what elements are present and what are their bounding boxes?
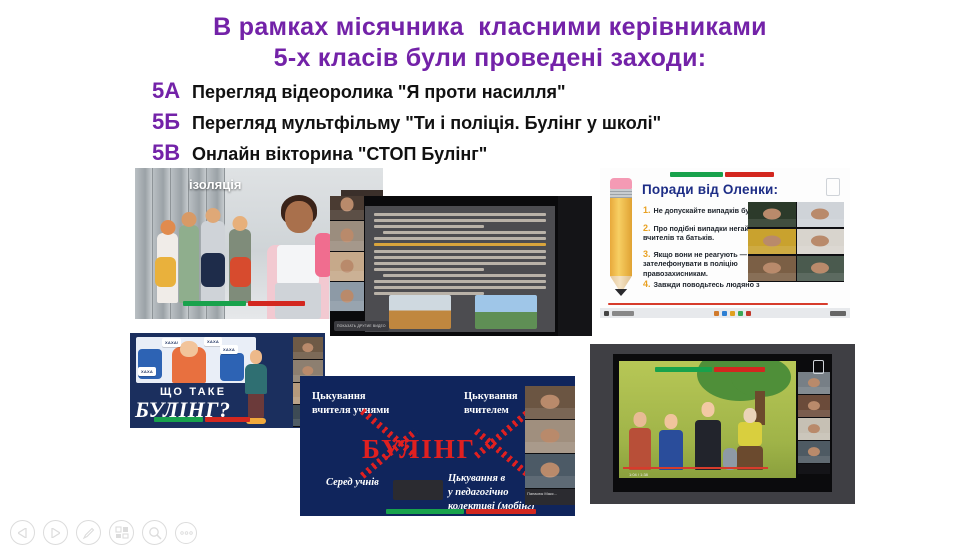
torso	[659, 430, 683, 470]
bully-figure	[220, 353, 244, 381]
text-line	[374, 213, 546, 216]
participant-tile[interactable]	[293, 337, 323, 360]
class-tag: 5Б	[152, 109, 192, 135]
tip-number: 4.	[643, 279, 651, 289]
skirt	[737, 446, 763, 470]
pen-icon[interactable]	[76, 520, 101, 545]
slide-document	[365, 206, 555, 332]
start-icon[interactable]	[604, 311, 609, 316]
title-line-2: 5-х класів були проведені заходи:	[0, 43, 980, 74]
head-icon	[744, 408, 757, 423]
participant-tile[interactable]	[798, 441, 830, 464]
banner-red	[714, 367, 765, 372]
banner-green	[655, 367, 712, 372]
text-line	[374, 225, 484, 228]
list-item: 5А Перегляд відеоролика "Я проти насилля…	[152, 78, 932, 105]
pencil-icon	[610, 178, 632, 296]
tips-heading: Поради від Оленки:	[642, 182, 778, 197]
text-line	[374, 256, 546, 259]
presentation-toolbar	[10, 520, 197, 545]
copy-link-icon[interactable]	[826, 178, 840, 196]
cartoon-teacher	[737, 408, 763, 470]
participant-tile[interactable]	[525, 420, 575, 454]
zoom-icon[interactable]	[142, 520, 167, 545]
participant-name-label: Панасюк Макс...	[525, 489, 575, 505]
backpack-icon	[201, 253, 225, 287]
video-progress-bar[interactable]	[608, 303, 828, 306]
more-options-icon[interactable]	[175, 522, 197, 544]
locker-icon	[135, 168, 153, 319]
meeting-banner	[154, 417, 250, 422]
participant-thumbnail-strip	[798, 372, 830, 474]
pencil-tip	[610, 289, 632, 296]
speech-bubble: ХАХА!	[162, 338, 181, 347]
shirt	[277, 245, 319, 285]
title-line-1: В рамках місячника класними керівниками	[0, 12, 980, 43]
video-time-label: 1:04 / 1:38	[629, 472, 648, 477]
uniform	[695, 420, 721, 470]
cartoon-girl	[659, 414, 683, 470]
head-icon	[285, 201, 313, 233]
taskbar-app-icon[interactable]	[738, 311, 743, 316]
text-line	[374, 262, 546, 265]
text-line	[383, 231, 546, 234]
activity-text: Онлайн вікторина "СТОП Булінг"	[192, 141, 487, 167]
cartoon-scene: 1:04 / 1:38	[619, 361, 796, 478]
cartoon-boy	[629, 412, 651, 470]
class-activity-list: 5А Перегляд відеоролика "Я проти насилля…	[152, 78, 932, 171]
diagram-center-label: БУЛІНГ	[362, 434, 476, 465]
system-tray[interactable]	[830, 311, 846, 316]
cartoon-police-video-screenshot: 1:04 / 1:38	[590, 344, 855, 504]
highlight-line	[374, 243, 546, 246]
text-line	[374, 219, 546, 222]
cartoon-policewoman	[695, 402, 721, 470]
disability-presentation-screenshot: ПОКАЗАТЬ ДРУГИЕ ВИДЕО	[330, 196, 592, 336]
text-line	[383, 274, 546, 277]
participant-grid	[748, 202, 844, 282]
participant-tile[interactable]	[525, 454, 575, 489]
text-line	[374, 268, 484, 271]
illustration-basketball	[389, 295, 451, 329]
backpack-icon	[230, 257, 251, 287]
what-is-bullying-screenshot: ХАХА! ХАХА ХАХА ХАХА ЩО ТАКЕ БУЛІНГ?	[130, 333, 325, 428]
tip-number: 1.	[643, 205, 651, 215]
backpack-icon	[155, 257, 176, 287]
banner-red	[466, 509, 536, 514]
tip-number: 3.	[643, 249, 651, 259]
banner-red	[248, 301, 305, 306]
banner-green	[183, 301, 246, 306]
page-title: В рамках місячника класними керівниками …	[0, 12, 980, 74]
olenka-tips-screenshot: Поради від Оленки: 1.Не допускайте випад…	[600, 168, 850, 318]
activity-text: Перегляд мультфільму "Ти і поліція. Булі…	[192, 110, 661, 136]
tip-text: Про подібні випадки негай вчителів та ба…	[643, 224, 749, 242]
taskbar-app-icon[interactable]	[714, 311, 719, 316]
participant-thumbnail-strip	[330, 196, 364, 308]
search-box[interactable]	[612, 311, 634, 316]
participant-thumbnail-strip: Панасюк Макс...	[525, 386, 575, 498]
blouse	[738, 422, 762, 446]
diagram-label-bottom-left: Серед учнів	[326, 476, 379, 490]
taskbar-app-icon[interactable]	[746, 311, 751, 316]
participant-tile[interactable]	[797, 229, 845, 255]
cartoon-cat	[723, 444, 737, 470]
text-line	[374, 280, 546, 283]
participant-tile[interactable]	[798, 395, 830, 418]
taskbar-app-icon[interactable]	[730, 311, 735, 316]
activity-text: Перегляд відеоролика "Я проти насилля"	[192, 79, 566, 105]
participant-tile[interactable]	[798, 418, 830, 441]
banner-green	[670, 172, 723, 177]
speech-bubble: ХАХА	[138, 367, 156, 376]
pencil-ferrule	[610, 189, 632, 198]
meeting-banner	[183, 301, 305, 306]
head-icon	[250, 350, 262, 364]
student-figure	[179, 225, 199, 303]
participant-tile[interactable]	[798, 372, 830, 395]
head-icon	[160, 220, 175, 235]
head-icon	[634, 412, 647, 427]
class-tag: 5В	[152, 140, 192, 166]
pencil-eraser	[610, 178, 632, 189]
illustration-rainbow	[475, 295, 537, 329]
tooltip-popup	[393, 480, 443, 500]
tip-text: Не допускайте випадків бу	[654, 206, 750, 215]
tip-text: Якщо вони не реагують — зателефонувати в…	[643, 250, 747, 278]
torso	[245, 364, 267, 394]
torso	[629, 428, 651, 470]
standing-figure	[243, 350, 269, 424]
head-icon	[180, 341, 198, 357]
participant-tile[interactable]	[525, 386, 575, 420]
participant-tile[interactable]	[330, 252, 364, 282]
text-line	[374, 286, 546, 289]
participant-tile[interactable]	[330, 282, 364, 312]
participant-tile[interactable]	[748, 256, 796, 282]
participant-tile[interactable]	[330, 221, 364, 252]
list-item: 5В Онлайн вікторина "СТОП Булінг"	[152, 140, 932, 167]
banner-green	[154, 417, 203, 422]
list-item: 5Б Перегляд мультфільму "Ти і поліція. Б…	[152, 109, 932, 136]
pencil-body	[610, 198, 632, 276]
windows-taskbar	[600, 308, 850, 318]
bullying-illustration: ХАХА! ХАХА ХАХА ХАХА	[136, 337, 256, 383]
show-other-videos-chip[interactable]: ПОКАЗАТЬ ДРУГИЕ ВИДЕО	[334, 321, 389, 331]
video-progress-bar[interactable]	[623, 467, 768, 469]
text-line	[374, 250, 546, 253]
head-icon	[702, 402, 715, 417]
next-slide-icon[interactable]	[43, 520, 68, 545]
bullying-diagram-screenshot: Цькування вчителя учнями Цькування вчите…	[300, 376, 575, 516]
meeting-banner	[386, 509, 536, 514]
meeting-banner	[655, 367, 765, 372]
slides-grid-icon[interactable]	[109, 520, 134, 545]
class-tag: 5А	[152, 78, 192, 104]
participant-tile[interactable]	[797, 202, 845, 228]
pencil-wood	[610, 276, 632, 289]
previous-slide-icon[interactable]	[10, 520, 35, 545]
head-icon	[233, 216, 248, 231]
tip-number: 2.	[643, 223, 651, 233]
tip-text: Завжди поводьтесь людяно з	[654, 280, 760, 289]
presentation-slide: В рамках місячника класними керівниками …	[0, 0, 980, 551]
taskbar-app-icon[interactable]	[722, 311, 727, 316]
video-player: 1:04 / 1:38	[613, 354, 832, 492]
copy-link-icon[interactable]	[813, 360, 824, 374]
participant-tile[interactable]	[748, 202, 796, 228]
isolation-caption: ізоляція	[189, 177, 241, 192]
participant-tile[interactable]	[797, 256, 845, 282]
banner-green	[386, 509, 464, 514]
head-icon	[665, 414, 678, 429]
speech-bubble: ХАХА	[204, 337, 222, 346]
banner-red	[205, 417, 250, 422]
head-icon	[206, 208, 221, 223]
banner-red	[725, 172, 774, 177]
head-icon	[182, 212, 197, 227]
text-line	[374, 237, 546, 240]
meeting-side-panel	[558, 196, 592, 336]
participant-tile[interactable]	[748, 229, 796, 255]
speech-bubble: ХАХА	[220, 345, 238, 354]
participant-tile[interactable]	[330, 196, 364, 221]
meeting-banner	[670, 172, 774, 177]
